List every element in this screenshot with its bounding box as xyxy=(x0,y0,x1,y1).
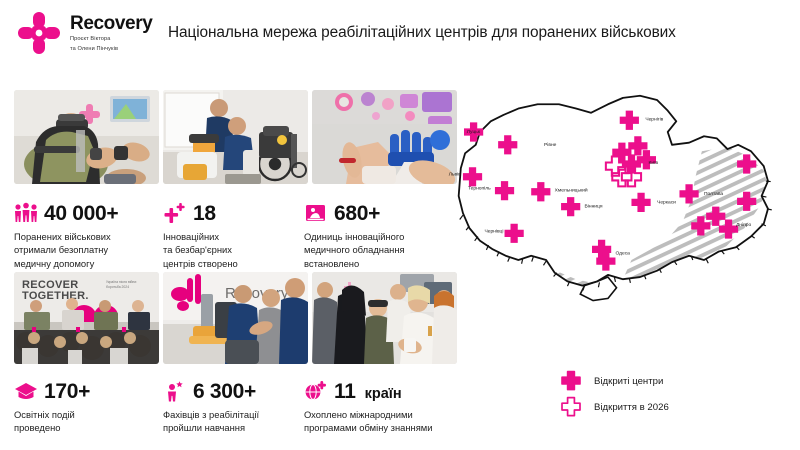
map-marker-open-center xyxy=(463,167,482,186)
ukraine-rehabilitation-centers-map: ЛуцькРівнеЛьвівТернопільХмельницькийВінн… xyxy=(448,86,800,306)
header: Recovery Проєкт Віктора та Олени Пінчукі… xyxy=(0,0,800,70)
filled-cross-icon xyxy=(560,370,582,392)
stat-description: Інноваційних та безбар'єрних центрів ств… xyxy=(163,230,303,270)
map-marker-open-center xyxy=(620,111,639,130)
page-title: Національна мережа реабілітаційних центр… xyxy=(168,24,793,42)
map-city-label: Чернівці xyxy=(484,228,503,234)
legend-item-opening-2026: Відкриття в 2026 xyxy=(560,394,669,420)
stat-desc-line: встановлено xyxy=(304,257,459,270)
map-marker-open-center xyxy=(498,135,517,154)
map-city-label: Луцьк xyxy=(467,129,481,135)
stat-value: 680+ xyxy=(334,203,380,224)
map-city-label: Тернопіль xyxy=(468,186,491,192)
medical-equipment-icon xyxy=(304,202,328,224)
legend-label: Відкриті центри xyxy=(594,376,663,387)
crimea-outline xyxy=(580,277,616,300)
stat-desc-line: програмами обміну знаннями xyxy=(304,421,469,434)
stat-desc-line: Освітніх подій xyxy=(14,408,154,421)
photo-vr-rehabilitation xyxy=(14,90,159,184)
map-city-label: Хмельницький xyxy=(555,187,588,194)
stat-desc-line: пройшли навчання xyxy=(163,421,313,434)
three-people-icon xyxy=(14,202,38,224)
stat-desc-line: Одиниць інноваційного xyxy=(304,230,459,243)
stat-value: 11 xyxy=(334,381,356,402)
stat-description: Охоплено міжнародними програмами обміну … xyxy=(304,408,469,435)
stat-desc-line: Інноваційних xyxy=(163,230,303,243)
photo-physical-therapy xyxy=(163,90,308,184)
photo-recovery-training: Recovery xyxy=(163,272,308,364)
stat-desc-line: Охоплено міжнародними xyxy=(304,408,469,421)
photo-hand-orthosis xyxy=(312,90,457,184)
map-city-label: Дніпро xyxy=(736,222,751,228)
legend-label: Відкриття в 2026 xyxy=(594,402,669,413)
stat-description: Освітніх подій проведено xyxy=(14,408,154,435)
four-petal-cross-icon xyxy=(16,10,62,56)
svg-text:TOGETHER.: TOGETHER. xyxy=(22,290,89,302)
stat-educational-events: 170+ Освітніх подій проведено xyxy=(14,378,154,435)
stat-value: 170+ xyxy=(44,381,90,402)
brand-logo[interactable]: Recovery Проєкт Віктора та Олени Пінчукі… xyxy=(16,10,152,56)
stat-unit: країн xyxy=(365,386,402,402)
cross-plus-icon xyxy=(163,202,187,224)
stat-countries-covered: 11 країн Охоплено міжнародними програмам… xyxy=(304,378,469,435)
brand-logo-text: Recovery Проєкт Віктора та Олени Пінчукі… xyxy=(70,12,152,53)
brand-subtitle-line1: Проєкт Віктора xyxy=(70,36,152,44)
map-legend: Відкриті центри Відкриття в 2026 xyxy=(560,368,669,420)
map-marker-open-center xyxy=(631,193,650,212)
brand-subtitle-line2: та Олени Пінчуків xyxy=(70,46,152,54)
stat-wounded-military-helped: 40 000+ Поранених військових отримали бе… xyxy=(14,200,154,270)
photo-recover-together-conference: RECOVER TOGETHER. Україна після війни: б… xyxy=(14,272,159,364)
stat-desc-line: медичного обладнання xyxy=(304,243,459,256)
map-city-label: Одеса xyxy=(615,251,630,257)
brand-name: Recovery xyxy=(70,14,152,33)
map-marker-open-center xyxy=(495,181,514,200)
map-city-label: Черкаси xyxy=(657,199,676,205)
stat-desc-line: центрів створено xyxy=(163,257,303,270)
stat-desc-line: проведено xyxy=(14,421,154,434)
map-city-label: Чернігів xyxy=(645,116,663,122)
globe-plus-icon xyxy=(304,380,328,402)
map-marker-open-center xyxy=(561,197,580,216)
stat-desc-line: отримали безоплатну xyxy=(14,243,154,256)
stat-specialists-trained: 6 300+ Фахівців з реабілітації пройшли н… xyxy=(163,378,313,435)
map-city-label: Вінниця xyxy=(585,204,603,210)
stat-equipment-installed: 680+ Одиниць інноваційного медичного обл… xyxy=(304,200,459,270)
stat-value: 6 300+ xyxy=(193,381,256,402)
legend-item-open-centers: Відкриті центри xyxy=(560,368,669,394)
photo-group-workshop xyxy=(312,272,457,364)
map-marker-open-center xyxy=(531,182,550,201)
map-city-label: Львів xyxy=(449,172,461,178)
stat-centers-created: 18 Інноваційних та безбар'єрних центрів … xyxy=(163,200,303,270)
stat-desc-line: Фахівців з реабілітації xyxy=(163,408,313,421)
infographic-page: Recovery Проєкт Віктора та Олени Пінчукі… xyxy=(0,0,800,450)
map-city-label: Рівне xyxy=(544,142,557,148)
stat-description: Поранених військових отримали безоплатну… xyxy=(14,230,154,270)
stat-desc-line: та безбар'єрних xyxy=(163,243,303,256)
map-marker-open-center xyxy=(505,224,524,243)
stat-description: Одиниць інноваційного медичного обладнан… xyxy=(304,230,459,270)
graduation-cap-icon xyxy=(14,380,38,402)
person-star-icon xyxy=(163,380,187,402)
stat-value: 40 000+ xyxy=(44,203,118,224)
outline-cross-icon xyxy=(560,396,582,418)
stat-value: 18 xyxy=(193,203,216,224)
map-city-label: Київ xyxy=(649,160,659,166)
svg-text:Україна після війни:: Україна після війни: xyxy=(106,280,137,284)
stat-desc-line: Поранених військових xyxy=(14,230,154,243)
stat-desc-line: медичну допомогу xyxy=(14,257,154,270)
map-city-label: Полтава xyxy=(704,191,723,197)
stat-description: Фахівців з реабілітації пройшли навчання xyxy=(163,408,313,435)
svg-text:боротьба 2024: боротьба 2024 xyxy=(106,285,129,289)
